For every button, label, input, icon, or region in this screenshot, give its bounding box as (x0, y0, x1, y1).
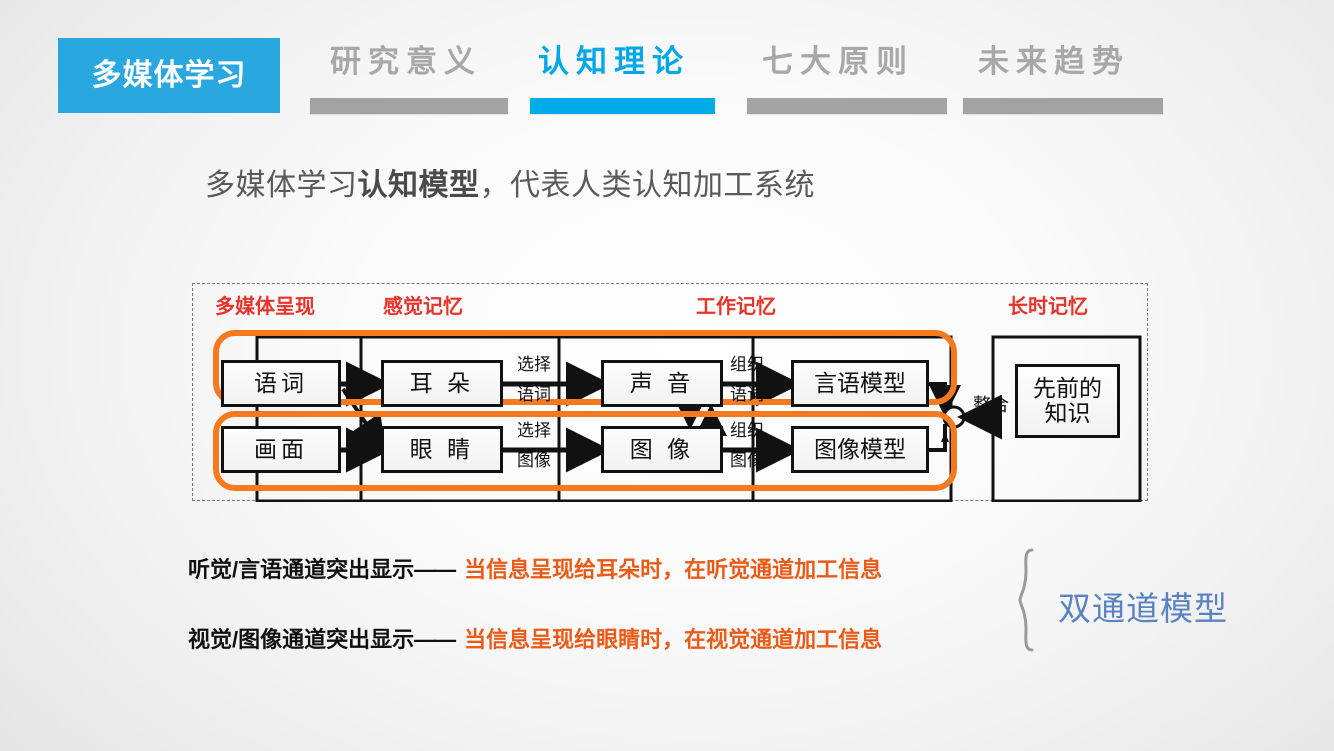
node-eyes: 眼 睛 (381, 426, 503, 473)
node-images: 图 像 (601, 426, 723, 473)
edge-label-select-images: 选择 图像 (511, 422, 557, 469)
node-sounds: 声 音 (601, 360, 723, 407)
legend-key: 听觉/言语通道突出显示 (188, 557, 414, 582)
tab-seven-principles[interactable]: 七大原则 (762, 45, 942, 115)
edge-label-organize-words: 组织 语词 (727, 356, 767, 403)
subtitle-lead: 多媒体学习 (205, 169, 358, 202)
edge-label-organize-images-line2: 图像 (727, 452, 767, 469)
node-pictorial-model: 图像模型 (791, 426, 929, 473)
legend-value: 当信息呈现给眼睛时，在视觉通道加工信息 (464, 627, 882, 652)
tab-underline-active (530, 98, 715, 114)
tab-underline (747, 98, 947, 114)
tab-label: 七大原则 (762, 45, 942, 79)
tab-label: 未来趋势 (978, 45, 1158, 79)
legend-dash: —— (414, 557, 454, 582)
edge-label-select-images-line2: 图像 (511, 452, 557, 469)
tab-underline (310, 98, 508, 114)
cognitive-model-diagram: 多媒体呈现 感觉记忆 工作记忆 长时记忆 (192, 283, 1148, 501)
subtitle-emphasis: 认知模型 (358, 169, 480, 202)
edge-label-select-words-line2: 语词 (511, 386, 557, 403)
node-pictures: 画面 (221, 426, 341, 473)
edge-label-organize-images-line1: 组织 (727, 422, 767, 439)
tab-underline (963, 98, 1163, 114)
legend-dash: —— (414, 627, 454, 652)
legend-value: 当信息呈现给耳朵时，在听觉通道加工信息 (464, 557, 882, 582)
slide-subtitle: 多媒体学习认知模型，代表人类认知加工系统 (205, 160, 815, 204)
edge-label-integrate: 整合 (965, 396, 1017, 414)
edge-label-select-images-line1: 选择 (511, 422, 557, 439)
tab-label: 研究意义 (330, 45, 510, 79)
tab-research-significance[interactable]: 研究意义 (330, 45, 510, 115)
node-verbal-model: 言语模型 (791, 360, 929, 407)
legend-key: 视觉/图像通道突出显示 (188, 627, 414, 652)
node-words: 语词 (221, 360, 341, 407)
edge-label-select-words: 选择 语词 (511, 356, 557, 403)
prior-knowledge-line-1: 先前的 (1033, 376, 1102, 401)
curly-brace-icon (1018, 548, 1052, 652)
tab-cognitive-theory[interactable]: 认知理论 (538, 45, 718, 115)
prior-knowledge-line-2: 知识 (1045, 401, 1091, 426)
node-prior-knowledge: 先前的 知识 (1015, 364, 1120, 438)
edge-label-organize-images: 组织 图像 (727, 422, 767, 469)
node-ears: 耳 朵 (381, 360, 503, 407)
legend-row-auditory: 听觉/言语通道突出显示——当信息呈现给耳朵时，在听觉通道加工信息 (188, 552, 882, 584)
dual-channel-model-label: 双通道模型 (1058, 582, 1228, 630)
brand-label: 多媒体学习 (92, 61, 247, 91)
legend-row-visual: 视觉/图像通道突出显示——当信息呈现给眼睛时，在视觉通道加工信息 (188, 622, 882, 654)
tab-label: 认知理论 (538, 45, 718, 79)
tab-future-trends[interactable]: 未来趋势 (978, 45, 1158, 115)
edge-label-select-words-line1: 选择 (511, 356, 557, 373)
edge-label-organize-words-line2: 语词 (727, 386, 767, 403)
brand-tab[interactable]: 多媒体学习 (58, 38, 280, 113)
subtitle-tail: ，代表人类认知加工系统 (480, 169, 816, 202)
header-nav: 多媒体学习 研究意义 认知理论 七大原则 未来趋势 (0, 0, 1334, 130)
edge-label-organize-words-line1: 组织 (727, 356, 767, 373)
